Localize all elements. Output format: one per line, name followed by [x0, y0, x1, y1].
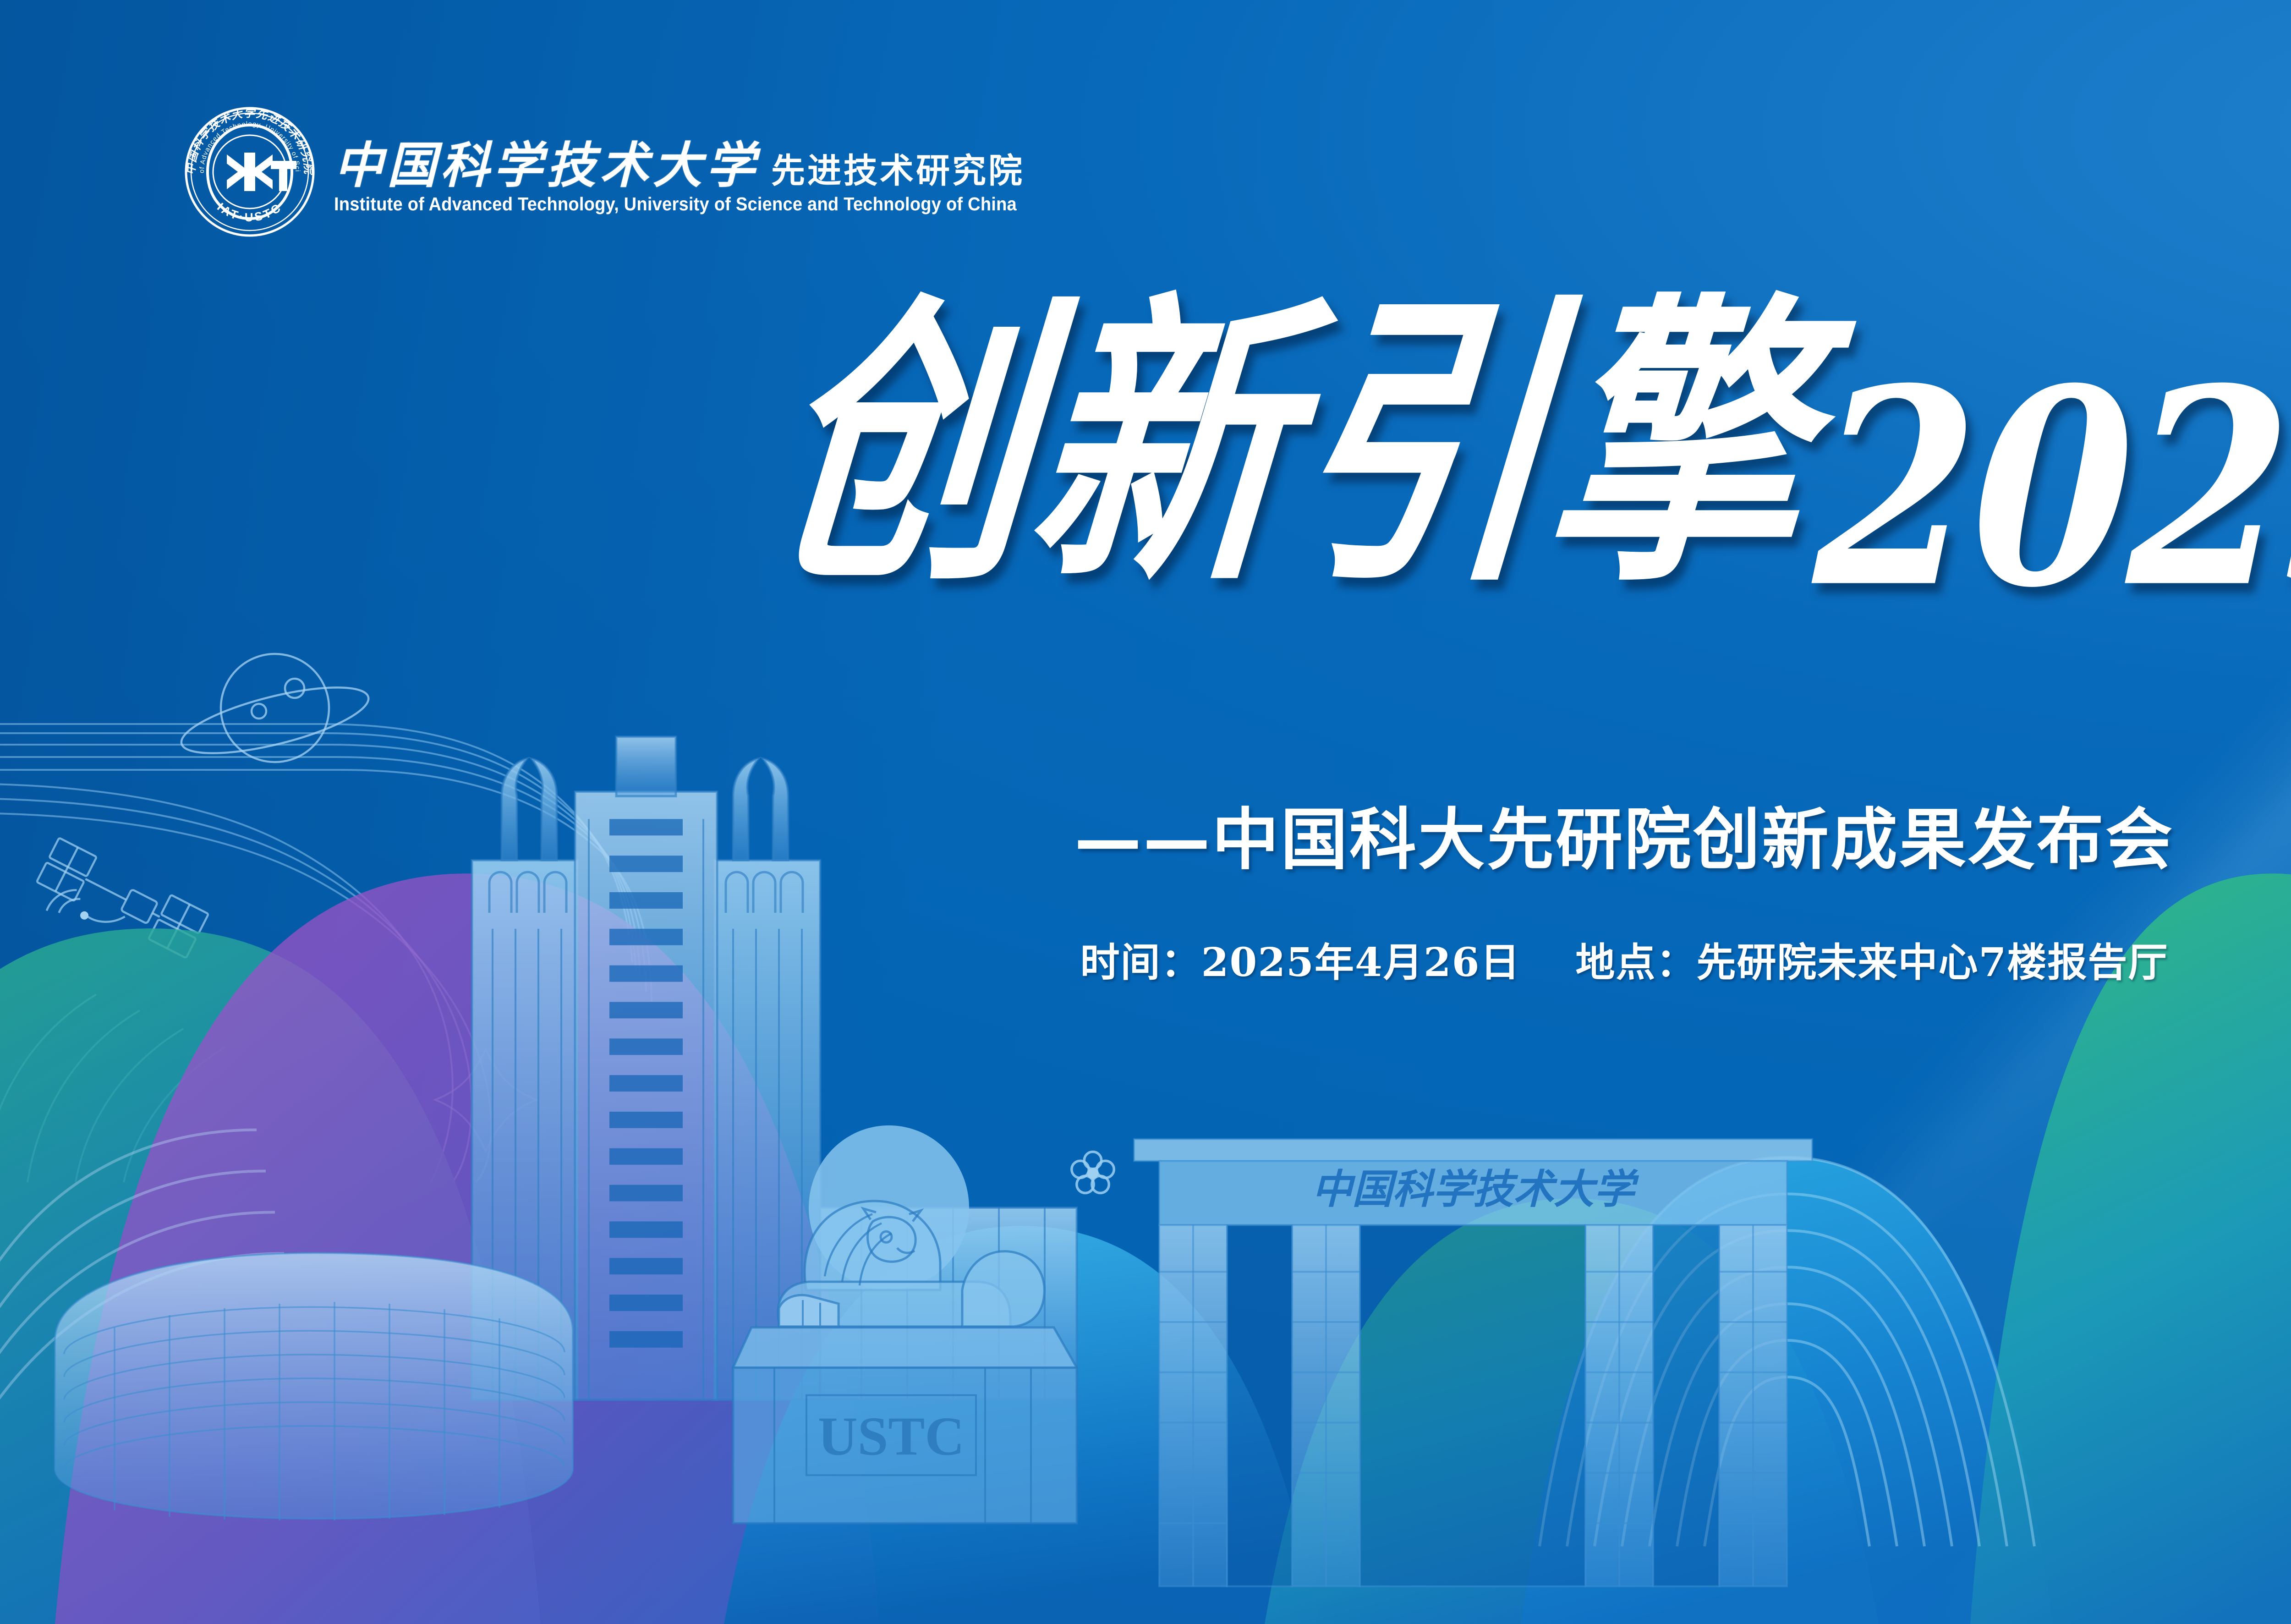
poster-canvas: USTC: [0, 0, 2291, 1624]
plum-blossom-icon: [1072, 1152, 1114, 1193]
campus-gate: 中国科学技术大学: [1134, 1139, 1812, 1586]
logo-name-en: Institute of Advanced Technology, Univer…: [334, 194, 1017, 214]
event-place: 地点：先研院未来中心7楼报告厅: [1576, 943, 2169, 982]
stadium-building: [55, 1253, 573, 1521]
event-time: 时间：2025年4月26日: [1080, 943, 1521, 982]
logo-block[interactable]: Institute of Advanced Technology, Univer…: [181, 103, 1068, 241]
subtitle: ——中国科大先研院创新成果发布会: [0, 807, 2291, 873]
logo-name-cn-sub: 先进技术研究院: [771, 154, 1025, 188]
svg-text:IAT·USTC: IAT·USTC: [214, 200, 285, 224]
iat-ustc-emblem-icon: Institute of Advanced Technology, Univer…: [181, 103, 318, 241]
gate-sign-text: 中国科学技术大学: [1312, 1165, 1639, 1213]
event-meta: 时间：2025年4月26日 地点：先研院未来中心7楼报告厅: [0, 943, 2291, 982]
logo-text-block: 中国科学技术大学 先进技术研究院 Institute of Advanced T…: [334, 129, 1068, 214]
logo-name-cn-main: 中国科学技术大学: [334, 141, 759, 190]
pedestal-text: USTC: [818, 1406, 965, 1467]
